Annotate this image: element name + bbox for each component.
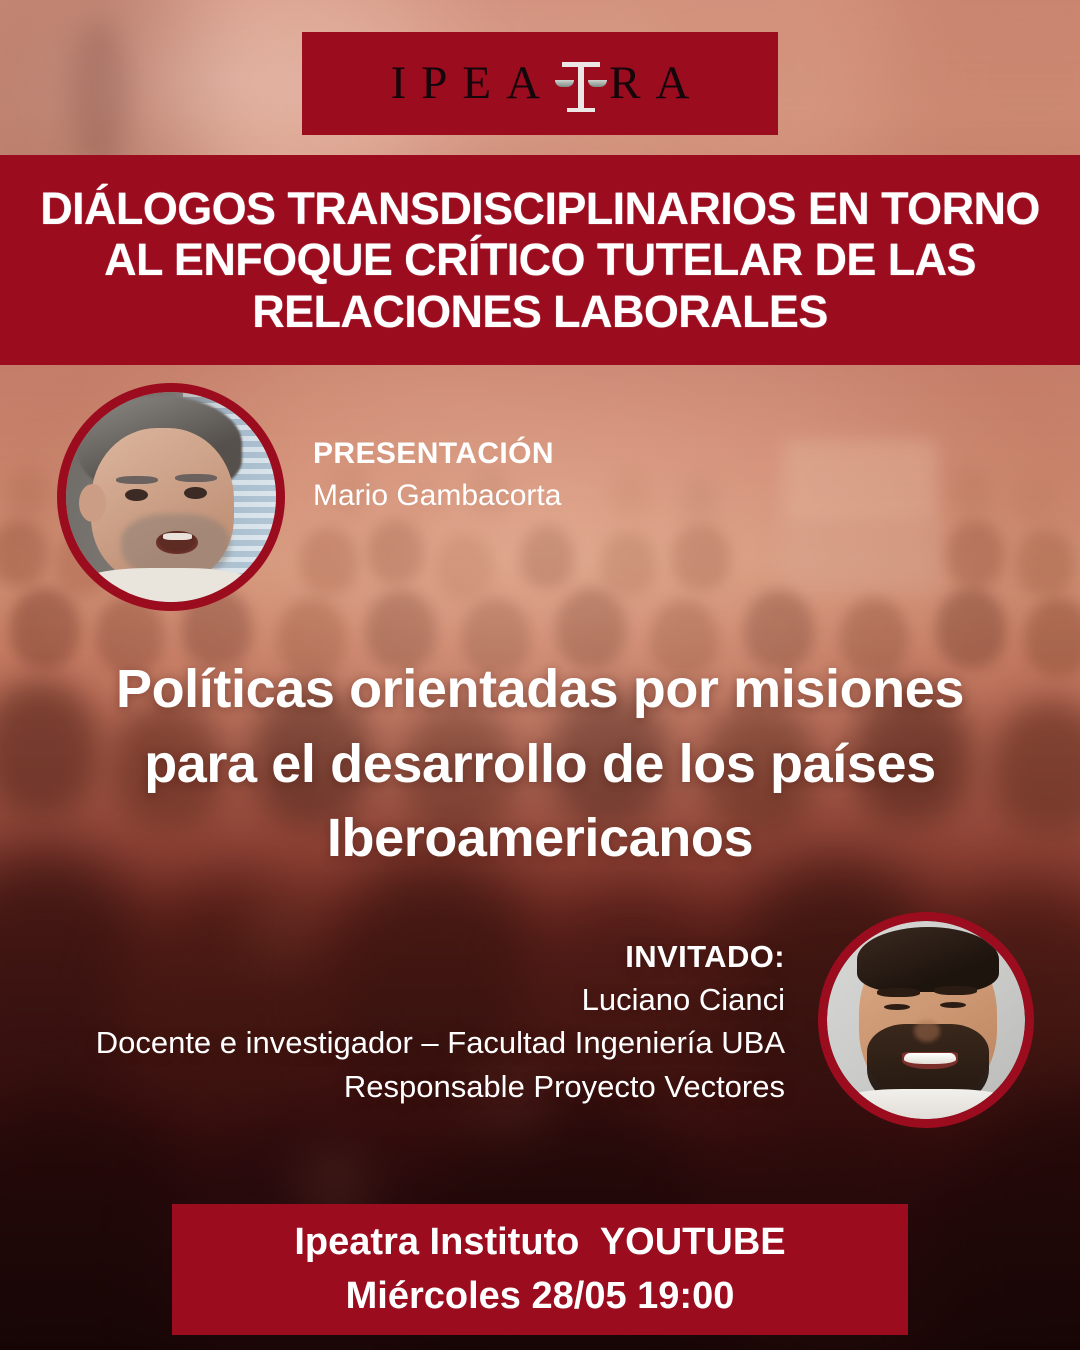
ipeatra-logo: IPEA RA bbox=[302, 32, 778, 135]
guest-affiliation-line-2: Responsable Proyecto Vectores bbox=[25, 1066, 785, 1108]
scales-of-justice-icon bbox=[555, 54, 607, 114]
presenter-avatar bbox=[57, 383, 285, 611]
broadcast-channel: Ipeatra Instituto YOUTUBE bbox=[294, 1216, 785, 1270]
presenter-details: PRESENTACIÓN Mario Gambacorta bbox=[313, 436, 561, 515]
guest-role-label: INVITADO: bbox=[25, 938, 785, 977]
event-series-title: DIÁLOGOS TRANSDISCIPLINARIOS EN TORNO AL… bbox=[26, 183, 1054, 337]
event-details-banner: Ipeatra Instituto YOUTUBE Miércoles 28/0… bbox=[172, 1204, 908, 1335]
title-line-2: AL ENFOQUE CRÍTICO TUTELAR DE LAS bbox=[40, 234, 1040, 285]
guest-details: INVITADO: Luciano Cianci Docente e inves… bbox=[25, 938, 785, 1108]
title-line-3: RELACIONES LABORALES bbox=[40, 286, 1040, 337]
logo-wordmark: IPEA RA bbox=[376, 54, 705, 114]
talk-title-line-2: para el desarrollo de los países bbox=[28, 727, 1052, 802]
event-datetime: Miércoles 28/05 19:00 bbox=[346, 1270, 735, 1324]
presenter-section: PRESENTACIÓN Mario Gambacorta bbox=[0, 383, 1080, 613]
title-banner: DIÁLOGOS TRANSDISCIPLINARIOS EN TORNO AL… bbox=[0, 155, 1080, 365]
logo-text-after: RA bbox=[609, 60, 704, 107]
logo-text-before: IPEA bbox=[391, 60, 555, 107]
talk-title-line-1: Políticas orientadas por misiones bbox=[28, 652, 1052, 727]
guest-avatar bbox=[818, 912, 1034, 1128]
guest-affiliation-line-1: Docente e investigador – Facultad Ingeni… bbox=[25, 1022, 785, 1064]
presenter-role-label: PRESENTACIÓN bbox=[313, 436, 561, 472]
presenter-name: Mario Gambacorta bbox=[313, 476, 561, 515]
guest-name: Luciano Cianci bbox=[25, 980, 785, 1020]
event-poster: IPEA RA DIÁLOGOS TRANSDISCIPLINARIOS EN … bbox=[0, 0, 1080, 1350]
title-line-1: DIÁLOGOS TRANSDISCIPLINARIOS EN TORNO bbox=[40, 183, 1040, 234]
talk-title-line-3: Iberoamericanos bbox=[28, 801, 1052, 876]
talk-title: Políticas orientadas por misiones para e… bbox=[0, 652, 1080, 876]
